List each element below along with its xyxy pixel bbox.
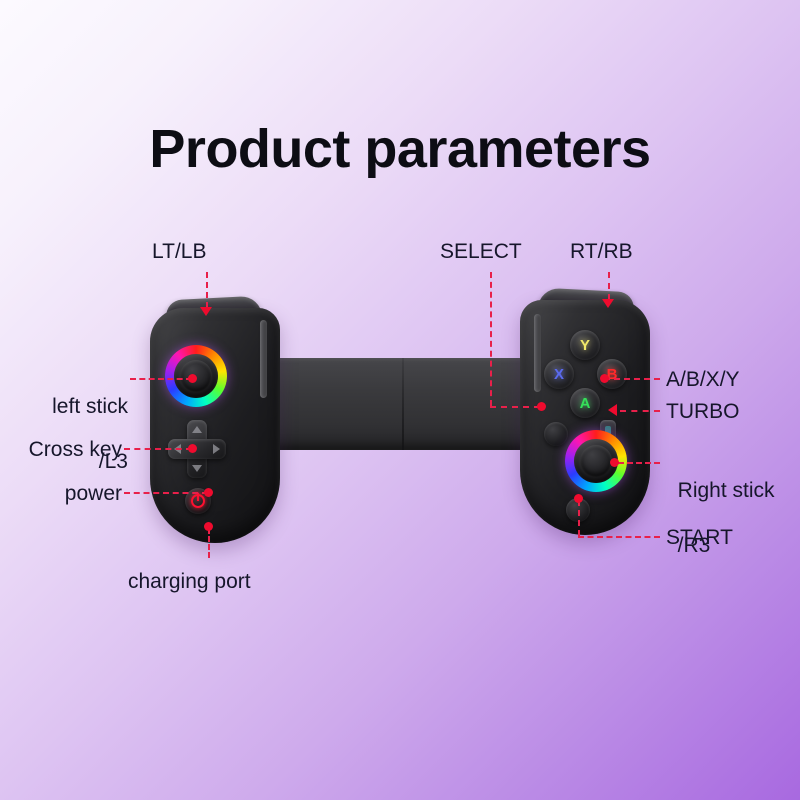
- leader-select-horizontal: [490, 406, 540, 408]
- leader-rt-rb: [608, 272, 610, 300]
- leader-dot-right-stick: [610, 458, 619, 467]
- leader-left-stick: [130, 378, 192, 380]
- right-stick-cap[interactable]: [580, 445, 612, 477]
- page-title: Product parameters: [0, 118, 800, 180]
- leader-dot-charging-port: [204, 522, 213, 531]
- leader-dot-left-stick: [188, 374, 197, 383]
- leader-dot-select: [537, 402, 546, 411]
- leader-lt-lb: [206, 272, 208, 308]
- leader-dot-start: [574, 494, 583, 503]
- label-left-stick-line1: left stick: [52, 395, 128, 418]
- label-start: START: [666, 524, 733, 551]
- right-phone-rail: [534, 314, 541, 392]
- label-rt-rb: RT/RB: [570, 238, 633, 265]
- label-turbo: TURBO: [666, 398, 740, 425]
- leader-dot-cross-key: [188, 444, 197, 453]
- leader-start-vertical: [578, 500, 580, 536]
- label-lt-lb: LT/LB: [152, 238, 206, 265]
- left-phone-rail: [260, 320, 267, 398]
- face-button-a[interactable]: A: [570, 388, 600, 418]
- label-cross-key: Cross key: [0, 436, 122, 463]
- leader-abxy: [604, 378, 660, 380]
- face-button-x[interactable]: X: [544, 359, 574, 389]
- leader-start-horizontal: [578, 536, 660, 538]
- leader-right-stick: [618, 462, 660, 464]
- dpad-down-arrow-icon[interactable]: [192, 465, 202, 472]
- leader-arrow-turbo: [608, 404, 617, 416]
- leader-dot-power: [204, 488, 213, 497]
- face-button-y[interactable]: Y: [570, 330, 600, 360]
- leader-arrow-rt-rb: [602, 299, 614, 308]
- power-icon: [191, 494, 205, 508]
- leader-charging-port: [208, 528, 210, 558]
- label-charging-port: charging port: [128, 568, 251, 595]
- dpad-right-arrow-icon[interactable]: [213, 444, 220, 454]
- label-right-stick-line1: Right stick: [678, 479, 775, 502]
- controller-bridge-seam: [402, 358, 404, 450]
- leader-dot-abxy: [600, 374, 609, 383]
- leader-power: [124, 492, 208, 494]
- dpad-up-arrow-icon[interactable]: [192, 426, 202, 433]
- leader-select-vertical: [490, 272, 492, 406]
- leader-arrow-lt-lb: [200, 307, 212, 316]
- label-power: power: [0, 480, 122, 507]
- leader-cross-key: [124, 448, 192, 450]
- label-abxy: A/B/X/Y: [666, 366, 740, 393]
- label-select: SELECT: [440, 238, 522, 265]
- leader-turbo: [620, 410, 660, 412]
